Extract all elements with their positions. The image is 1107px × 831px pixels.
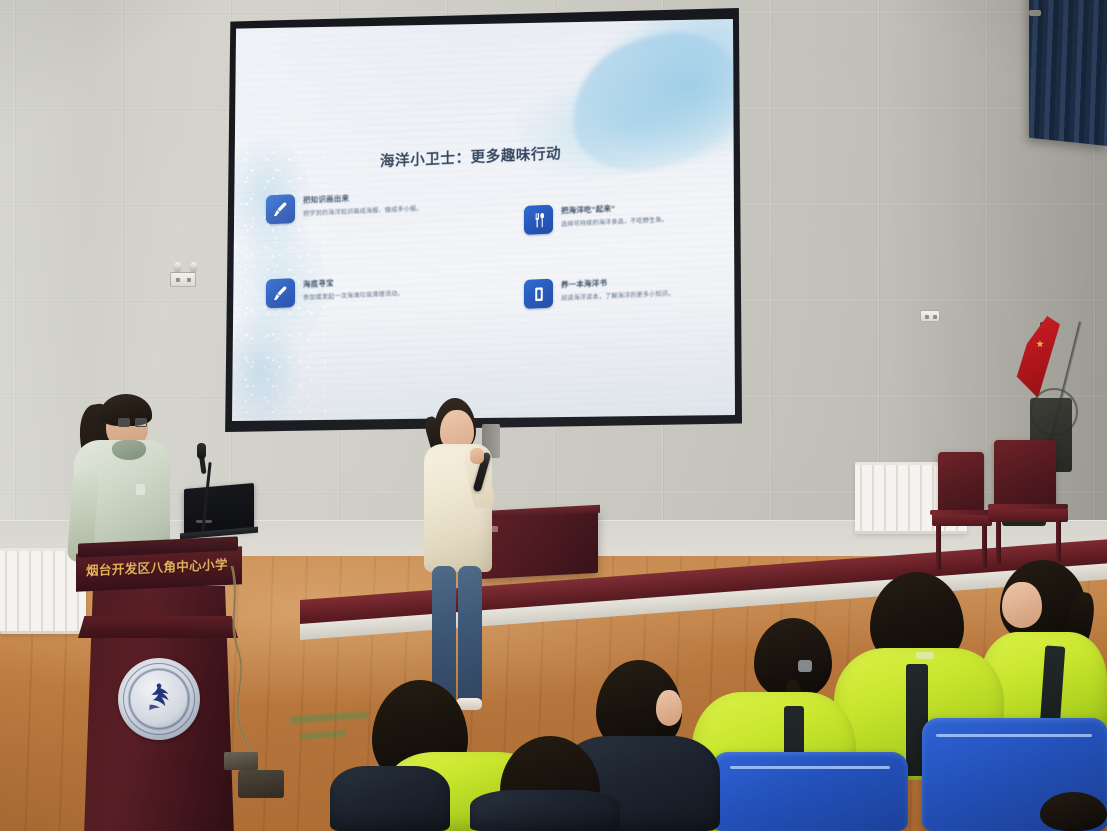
chair-leg-front-right: [982, 524, 987, 568]
speaker-leg-right: [458, 566, 482, 702]
floor-equipment-box: [238, 770, 284, 798]
school-crest: [118, 658, 200, 740]
speaker-hand: [470, 448, 484, 464]
chair-leg-front-left: [996, 520, 1001, 564]
cable-connector-block: [224, 752, 258, 770]
student-hair: [1040, 792, 1107, 831]
navy-curtain-panel: [1029, 0, 1107, 146]
hair-tie: [798, 660, 812, 672]
chair-backrest: [938, 452, 984, 518]
backpack-seam: [730, 766, 890, 769]
microphone-icon: [197, 443, 206, 459]
auditorium-presentation-photo: 海洋小卫士：更多趣味行动 把知识画出来 把学到的海洋知识画成海报、做成手小报。: [0, 0, 1107, 831]
screen-glare: [230, 19, 735, 421]
chair-leg-front-left: [936, 524, 941, 570]
backpack-seam: [936, 734, 1092, 737]
glasses-icon: [118, 418, 148, 427]
student-jacket-dark: [470, 790, 620, 831]
wooden-armchair-second[interactable]: [988, 440, 1070, 566]
curtain-rod: [1029, 10, 1041, 16]
blue-bird-icon: [142, 680, 176, 716]
floor-cable: [214, 566, 324, 781]
jacket-reflective-strip: [916, 652, 934, 659]
socket-screw-left: [174, 262, 181, 271]
blue-backpack: [712, 752, 908, 831]
chair-armrest: [988, 504, 1068, 509]
student-face: [656, 690, 682, 726]
socket-screw-right: [190, 262, 197, 271]
wall-socket-plate-right[interactable]: [920, 310, 940, 322]
maroon-stage-cabinet: [480, 509, 598, 579]
wall-socket-plate[interactable]: [170, 272, 196, 287]
chair-backrest: [994, 440, 1056, 512]
student-face: [1002, 582, 1042, 628]
wooden-armchair[interactable]: [930, 452, 996, 572]
screen-display-area: 海洋小卫士：更多趣味行动 把知识画出来 把学到的海洋知识画成海报、做成手小报。: [230, 19, 735, 421]
chair-armrest: [930, 510, 992, 515]
wall-mounted-led-screen[interactable]: 海洋小卫士：更多趣味行动 把知识画出来 把学到的海洋知识画成海报、做成手小报。: [222, 8, 742, 432]
presenter-collar: [112, 440, 146, 460]
student-jacket-dark: [330, 766, 450, 831]
presenter-badge: [136, 484, 145, 495]
chair-leg-front-right: [1056, 520, 1061, 562]
